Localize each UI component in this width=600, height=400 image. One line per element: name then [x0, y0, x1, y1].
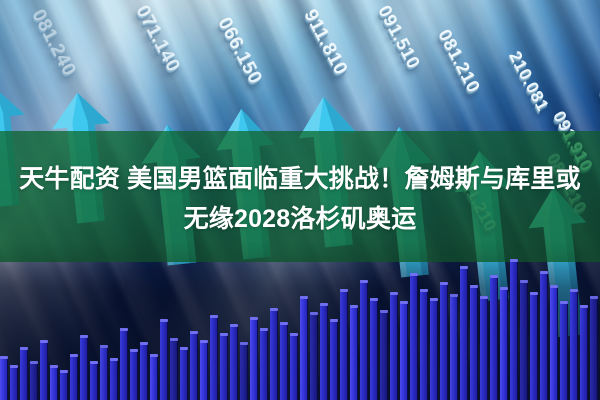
bar-chart-bar	[230, 324, 238, 400]
bar-chart-bar	[190, 331, 198, 400]
bar-chart-bar	[480, 296, 488, 400]
bar-chart-bar	[440, 282, 448, 400]
bar-chart-bar	[500, 287, 508, 400]
bar-chart	[0, 240, 600, 400]
bar-chart-bar	[10, 365, 18, 400]
bar-chart-bar	[250, 317, 258, 400]
headline-line-2: 无缘2028洛杉矶奥运	[0, 199, 600, 239]
bar-chart-bar	[270, 308, 278, 400]
bar-chart-bar	[100, 345, 108, 400]
bar-chart-bar	[160, 319, 168, 400]
bar-chart-bar	[590, 296, 598, 400]
banner-image: 081.240071.140066.150911.810091.510081.2…	[0, 0, 600, 400]
bar-chart-bar	[40, 340, 48, 400]
bar-chart-bar	[570, 289, 578, 400]
bar-chart-bar	[140, 342, 148, 400]
bar-chart-bar	[220, 333, 228, 400]
bar-chart-bar	[170, 338, 178, 400]
bar-chart-bar	[550, 285, 558, 400]
bar-chart-bar	[180, 347, 188, 400]
bar-chart-bar	[150, 354, 158, 400]
bar-chart-bar	[420, 289, 428, 400]
bar-chart-bar	[110, 358, 118, 400]
bar-chart-bar	[30, 361, 38, 400]
bar-chart-bar	[240, 342, 248, 400]
bar-chart-bar	[260, 328, 268, 400]
bar-chart-bar	[490, 275, 498, 400]
headline-line-1: 天牛配资 美国男篮面临重大挑战！詹姆斯与库里或	[0, 159, 600, 199]
bar-chart-bar	[290, 333, 298, 400]
bar-chart-bar	[380, 310, 388, 400]
bar-chart-bar	[310, 312, 318, 400]
bar-chart-bar	[20, 347, 28, 400]
bar-chart-bar	[430, 298, 438, 400]
bar-chart-bar	[460, 266, 468, 400]
bar-chart-bar	[540, 271, 548, 400]
bar-chart-bar	[330, 319, 338, 400]
bar-chart-bar	[70, 354, 78, 400]
bar-chart-bar	[370, 298, 378, 400]
bar-chart-bar	[130, 349, 138, 400]
bar-chart-bar	[60, 370, 68, 400]
bar-chart-bar	[560, 301, 568, 400]
bar-chart-bar	[210, 315, 218, 400]
bar-chart-bar	[280, 322, 288, 400]
bar-chart-bar	[520, 280, 528, 400]
bar-chart-bar	[200, 340, 208, 400]
bar-chart-bar	[530, 292, 538, 400]
bar-chart-bar	[120, 328, 128, 400]
bar-chart-bar	[340, 289, 348, 400]
bar-chart-bar	[90, 361, 98, 400]
bar-chart-bar	[400, 301, 408, 400]
bar-chart-bar	[360, 280, 368, 400]
bar-chart-bar	[390, 292, 398, 400]
bar-chart-bar	[470, 285, 478, 400]
bar-chart-bar	[0, 356, 8, 400]
bar-chart-bar	[50, 365, 58, 400]
bar-chart-bar	[80, 335, 88, 400]
bar-chart-bar	[450, 294, 458, 400]
headline: 天牛配资 美国男篮面临重大挑战！詹姆斯与库里或 无缘2028洛杉矶奥运	[0, 159, 600, 239]
bar-chart-bar	[300, 296, 308, 400]
bar-chart-bar	[320, 303, 328, 400]
bar-chart-bar	[350, 305, 358, 400]
bar-chart-bar	[580, 305, 588, 400]
bar-chart-bar	[410, 273, 418, 400]
bar-chart-bar	[510, 259, 518, 400]
